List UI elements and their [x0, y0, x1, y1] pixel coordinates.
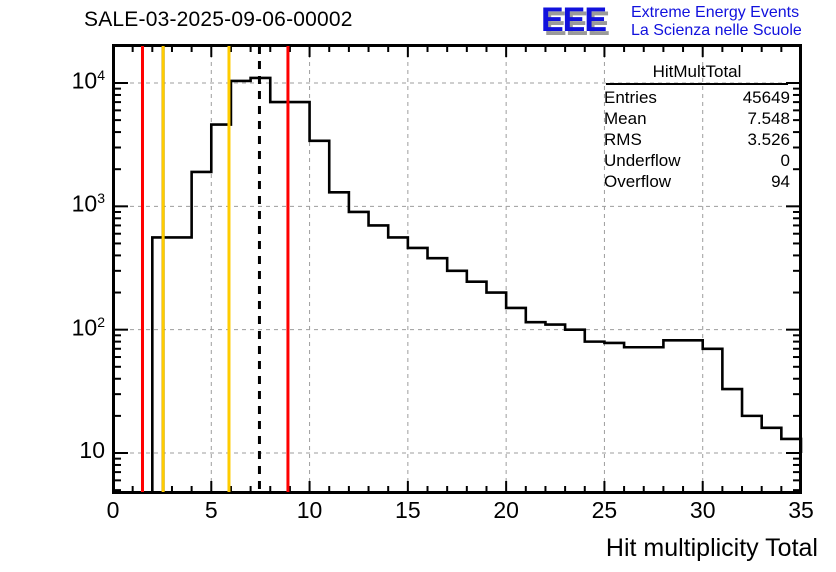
stats-row-key: Mean — [604, 108, 647, 129]
y-tick-label: 104 — [72, 67, 105, 95]
eee-logo: EEE Extreme Energy Events La Scienza nel… — [541, 2, 833, 42]
stats-row-value: 0 — [781, 150, 790, 171]
x-tick-label: 20 — [493, 497, 519, 524]
x-tick-label: 30 — [690, 497, 716, 524]
stats-row: Entries45649 — [600, 87, 794, 108]
stats-row: RMS3.526 — [600, 129, 794, 150]
stats-row-key: Entries — [604, 87, 657, 108]
stats-row: Overflow94 — [600, 171, 794, 192]
y-tick-label: 10 — [79, 437, 105, 464]
eee-logo-mark: EEE — [541, 3, 606, 37]
x-tick-label: 10 — [297, 497, 323, 524]
x-tick-label: 25 — [592, 497, 618, 524]
x-tick-label: 5 — [205, 497, 218, 524]
stats-row-value: 7.548 — [747, 108, 790, 129]
stats-row-key: Overflow — [604, 171, 671, 192]
x-axis-title: Hit multiplicity Total — [606, 534, 818, 563]
x-tick-label: 0 — [107, 497, 120, 524]
stats-row-value: 45649 — [743, 87, 790, 108]
stats-row: Mean7.548 — [600, 108, 794, 129]
eee-logo-line2: La Scienza nelle Scuole — [631, 22, 802, 40]
stats-rows: Entries45649Mean7.548RMS3.526Underflow0O… — [600, 87, 794, 192]
y-tick-label: 102 — [72, 314, 105, 342]
y-tick-label: 103 — [72, 190, 105, 218]
eee-logo-line1: Extreme Energy Events — [631, 4, 799, 22]
x-tick-label: 35 — [788, 497, 814, 524]
page-title: SALE-03-2025-09-06-00002 — [84, 8, 353, 32]
stats-row-value: 3.526 — [747, 129, 790, 150]
stats-row-value: 94 — [771, 171, 790, 192]
stats-box: HitMultTotal Entries45649Mean7.548RMS3.5… — [600, 62, 794, 192]
x-tick-label: 15 — [395, 497, 421, 524]
stats-row-key: Underflow — [604, 150, 681, 171]
stats-row: Underflow0 — [600, 150, 794, 171]
root-canvas: SALE-03-2025-09-06-00002 EEE Extreme Ene… — [0, 0, 836, 572]
stats-title: HitMultTotal — [606, 62, 788, 85]
stats-row-key: RMS — [604, 129, 642, 150]
